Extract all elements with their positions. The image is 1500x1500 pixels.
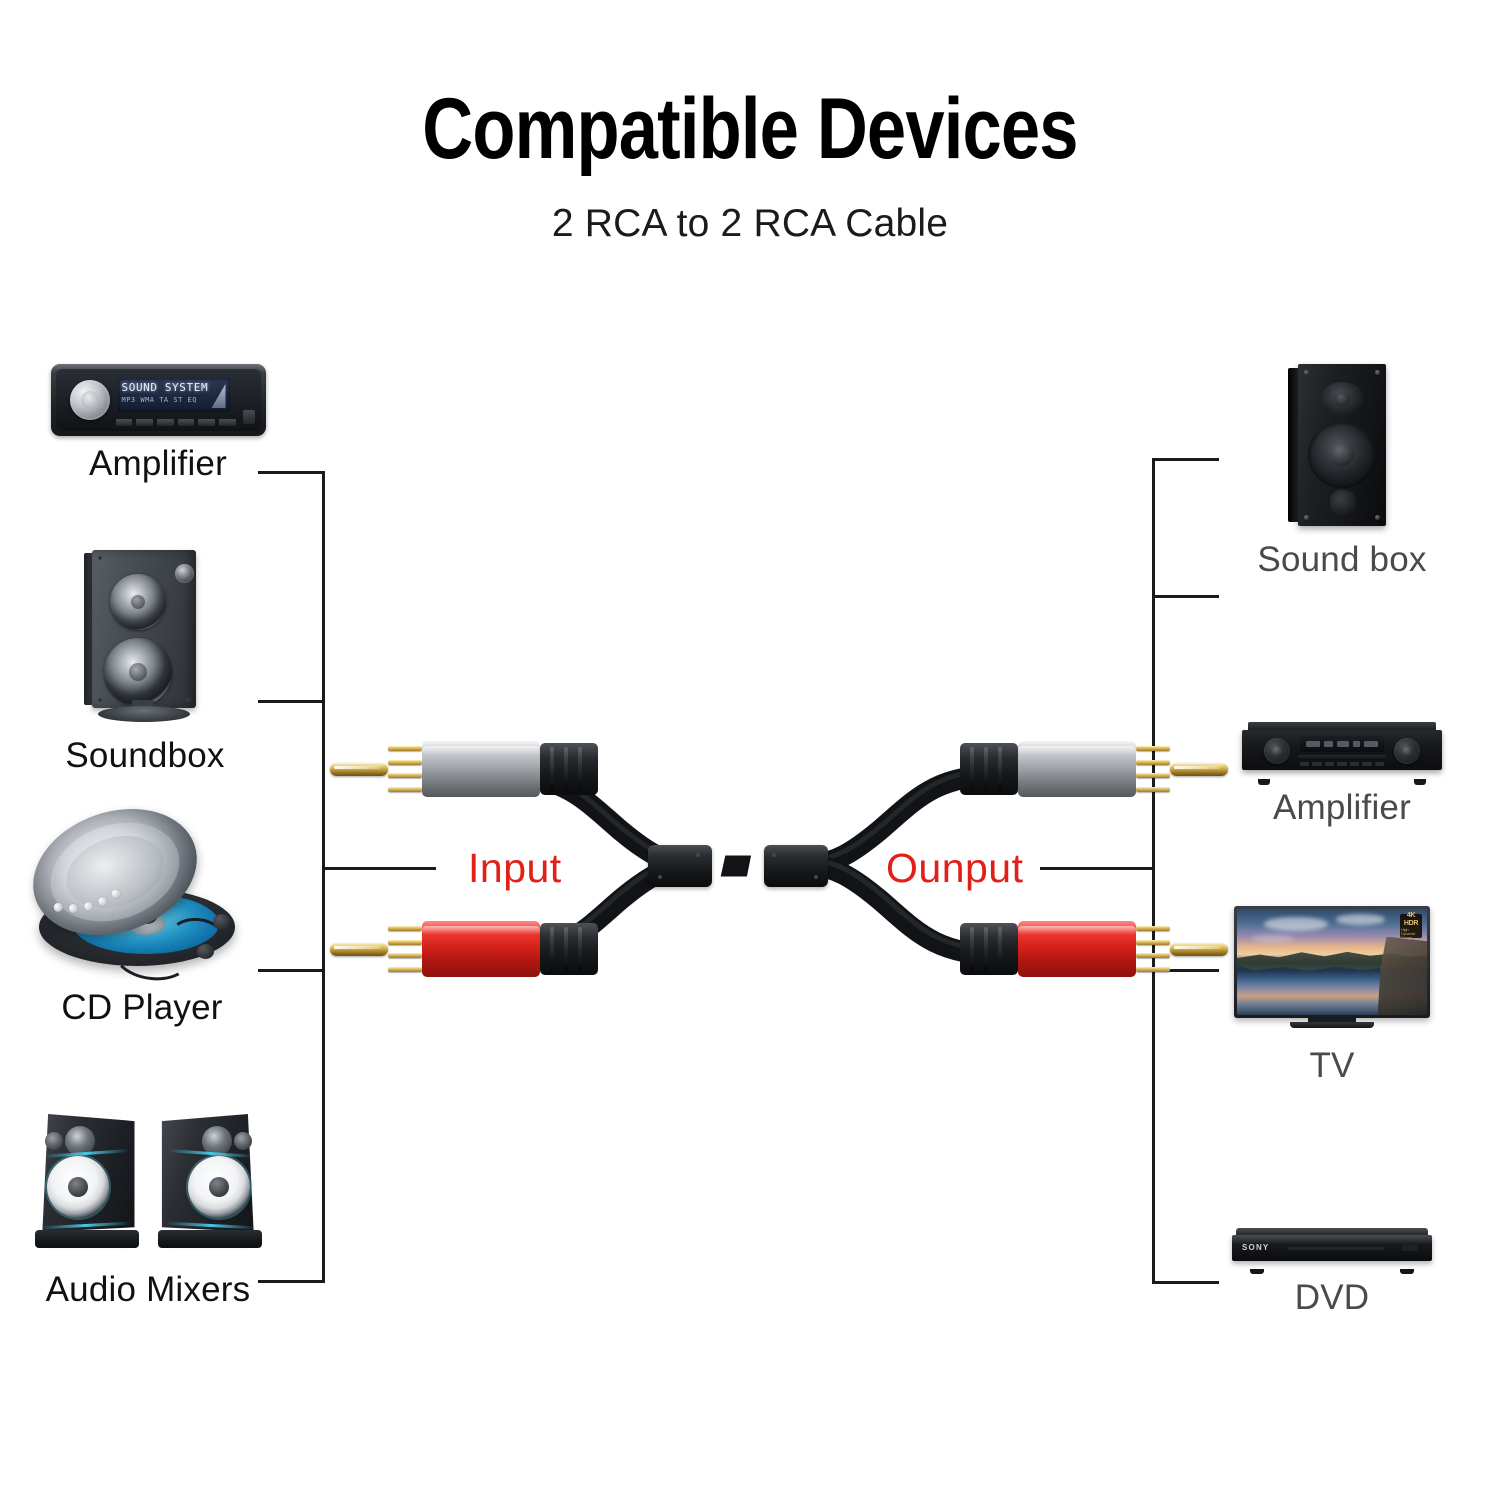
dvd-brand-label: SONY bbox=[1242, 1243, 1269, 1252]
rca-center-pin bbox=[1170, 943, 1228, 956]
device-left-amplifier[interactable]: SOUND SYSTEM MP3 WMA TA ST EQ Amplifier bbox=[48, 364, 268, 484]
rca-plug-output-left-channel[interactable] bbox=[960, 740, 1228, 798]
rca-center-pin bbox=[330, 943, 388, 956]
device-label: Soundbox bbox=[65, 736, 224, 776]
rca-barrel-white-channel bbox=[422, 741, 540, 797]
tv-4k-hdr-badge: 4K HDR High Dynamic Range bbox=[1400, 914, 1422, 938]
page-title: Compatible Devices bbox=[135, 86, 1365, 172]
device-label: CD Player bbox=[61, 988, 222, 1028]
device-right-sound-box[interactable]: Sound box bbox=[1282, 364, 1402, 580]
right-bracket-stub-output bbox=[1040, 867, 1154, 870]
rca-barrel-red-channel bbox=[1018, 921, 1136, 977]
right-bracket-stub-amplifier bbox=[1152, 595, 1219, 598]
infographic-canvas: Compatible Devices 2 RCA to 2 RCA Cable … bbox=[0, 0, 1500, 1500]
right-bracket-stub-sound-box bbox=[1152, 458, 1219, 461]
device-label: Audio Mixers bbox=[46, 1270, 251, 1310]
device-right-dvd[interactable]: SONY DVD bbox=[1232, 1228, 1432, 1318]
cable-splitter-left bbox=[648, 845, 712, 887]
av-receiver-icon bbox=[1242, 722, 1442, 780]
rca-plug-input-right-channel[interactable] bbox=[330, 920, 598, 978]
left-bracket-stub-audio-mixers bbox=[258, 1280, 325, 1283]
device-label: Amplifier bbox=[89, 444, 227, 484]
studio-monitor-icon bbox=[1288, 364, 1396, 532]
device-label: Amplifier bbox=[1273, 788, 1411, 828]
input-label: Input bbox=[468, 845, 562, 892]
left-bracket-stub-amplifier bbox=[258, 471, 325, 474]
right-bracket-spine bbox=[1152, 458, 1155, 1284]
device-right-tv[interactable]: 4K HDR High Dynamic Range TV bbox=[1232, 906, 1432, 1086]
car-stereo-icon: SOUND SYSTEM MP3 WMA TA ST EQ bbox=[51, 364, 266, 436]
bookshelf-speaker-icon bbox=[84, 550, 206, 728]
rca-barrel-white-channel bbox=[1018, 741, 1136, 797]
device-left-audio-mixers[interactable]: Audio Mixers bbox=[28, 1112, 268, 1310]
flat-screen-tv-icon: 4K HDR High Dynamic Range bbox=[1234, 906, 1430, 1038]
rca-collar bbox=[388, 924, 422, 974]
car-stereo-display-text: SOUND SYSTEM bbox=[122, 381, 209, 394]
rca-strain-relief bbox=[540, 923, 598, 975]
device-left-cd-player[interactable]: CD Player bbox=[22, 810, 262, 1028]
left-bracket-stub-cd-player bbox=[258, 969, 325, 972]
tv-badge-main: 4K bbox=[1407, 912, 1415, 919]
dvd-player-icon: SONY bbox=[1232, 1228, 1432, 1270]
rca-strain-relief bbox=[960, 923, 1018, 975]
page-subtitle: 2 RCA to 2 RCA Cable bbox=[0, 202, 1500, 246]
multimedia-speaker-pair-icon bbox=[31, 1112, 266, 1262]
device-label: DVD bbox=[1295, 1278, 1370, 1318]
car-stereo-display-subtext: MP3 WMA TA ST EQ bbox=[122, 396, 197, 404]
left-bracket-stub-input bbox=[322, 867, 436, 870]
rca-plug-input-left-channel[interactable] bbox=[330, 740, 598, 798]
rca-strain-relief bbox=[960, 743, 1018, 795]
portable-cd-player-icon bbox=[27, 810, 257, 980]
right-bracket-stub-dvd bbox=[1152, 1281, 1219, 1284]
rca-center-pin bbox=[330, 763, 388, 776]
rca-barrel-red-channel bbox=[422, 921, 540, 977]
rca-collar bbox=[388, 744, 422, 794]
left-bracket-stub-soundbox bbox=[258, 700, 325, 703]
output-label: Ounput bbox=[886, 845, 1024, 892]
device-right-amplifier[interactable]: Amplifier bbox=[1242, 722, 1442, 828]
rca-strain-relief bbox=[540, 743, 598, 795]
left-bracket-spine bbox=[322, 471, 325, 1283]
device-label: TV bbox=[1309, 1046, 1354, 1086]
device-label: Sound box bbox=[1257, 540, 1426, 580]
rca-plug-output-right-channel[interactable] bbox=[960, 920, 1228, 978]
device-left-soundbox[interactable]: Soundbox bbox=[75, 550, 215, 776]
tv-badge-second: HDR bbox=[1404, 920, 1418, 927]
cable-splitter-right bbox=[764, 845, 828, 887]
rca-collar bbox=[1136, 744, 1170, 794]
rca-collar bbox=[1136, 924, 1170, 974]
tv-badge-sub: High Dynamic Range bbox=[1401, 928, 1421, 940]
rca-center-pin bbox=[1170, 763, 1228, 776]
